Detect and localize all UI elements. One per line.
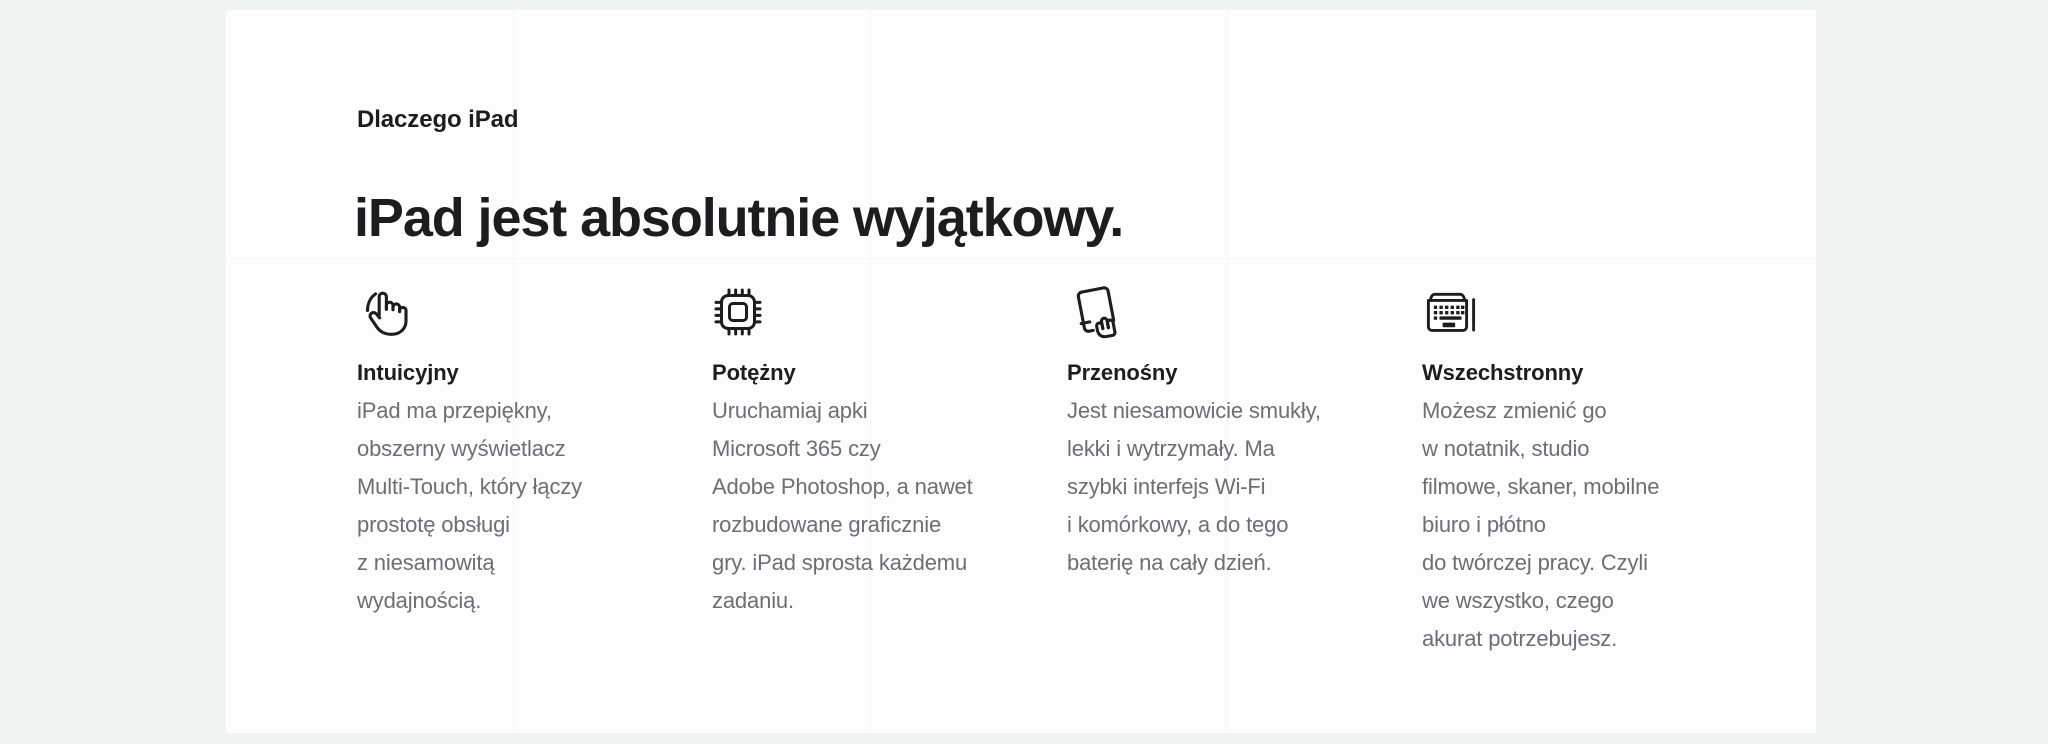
feature-column-przenosny: Przenośny Jest niesamowicie smukły, lekk… xyxy=(1067,268,1422,658)
feature-column-wszechstronny: Wszechstronny Możesz zmienić go w notatn… xyxy=(1422,268,1777,658)
feature-columns: Intuicyjny iPad ma przepiękny, obszerny … xyxy=(357,268,1777,658)
feature-body: Możesz zmienić go w notatnik, studio fil… xyxy=(1422,392,1749,658)
page-root: Dlaczego iPad iPad jest absolutnie wyjąt… xyxy=(0,0,2048,744)
why-ipad-card: Dlaczego iPad iPad jest absolutnie wyjąt… xyxy=(226,10,1816,733)
feature-body: iPad ma przepiękny, obszerny wyświetlacz… xyxy=(357,392,684,620)
section-eyebrow: Dlaczego iPad xyxy=(357,106,518,134)
feature-title: Intuicyjny xyxy=(357,358,684,388)
feature-column-intuicyjny: Intuicyjny iPad ma przepiękny, obszerny … xyxy=(357,268,712,658)
feature-column-potezny: Potężny Uruchamiaj apki Microsoft 365 cz… xyxy=(712,268,1067,658)
feature-title: Potężny xyxy=(712,358,1039,388)
feature-body: Uruchamiaj apki Microsoft 365 czy Adobe … xyxy=(712,392,1039,620)
keyboard-pencil-icon xyxy=(1422,268,1749,340)
feature-body: Jest niesamowicie smukły, lekki i wytrzy… xyxy=(1067,392,1394,582)
feature-title: Przenośny xyxy=(1067,358,1394,388)
chip-icon xyxy=(712,268,1039,340)
page-title: iPad jest absolutnie wyjątkowy. xyxy=(354,186,1123,250)
tablet-in-hand-icon xyxy=(1067,268,1394,340)
card-content: Dlaczego iPad iPad jest absolutnie wyjąt… xyxy=(357,10,1777,733)
tap-hand-icon xyxy=(357,268,684,340)
feature-title: Wszechstronny xyxy=(1422,358,1749,388)
